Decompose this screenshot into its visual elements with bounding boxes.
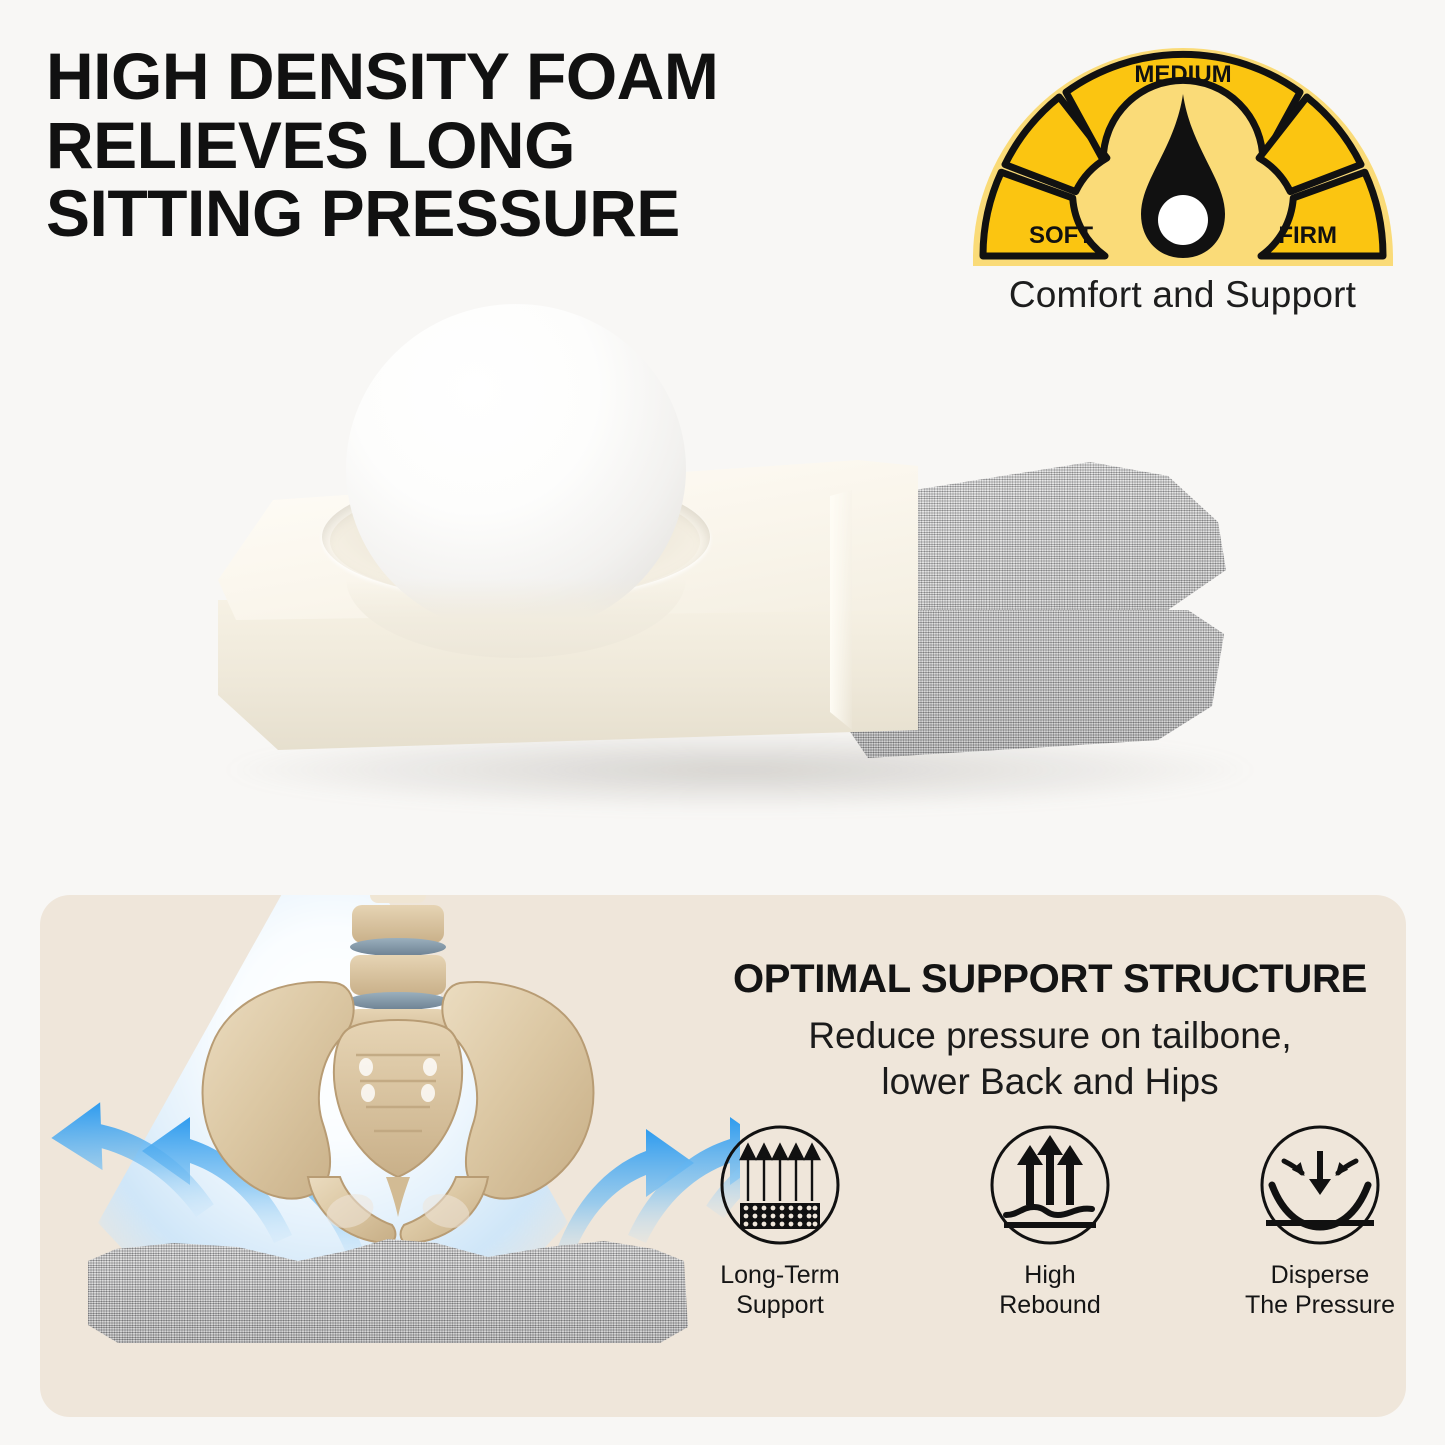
right-ilium xyxy=(442,982,593,1199)
anatomy-illustration xyxy=(40,895,740,1417)
pelvis-bone-icon xyxy=(180,895,600,1277)
headline-line-2: RELIEVES LONG xyxy=(46,111,926,180)
left-ilium xyxy=(203,982,354,1199)
rebound-arrows-icon xyxy=(988,1123,1112,1247)
feature-long-term-support: Long-Term Support xyxy=(680,1123,880,1320)
gauge-label-firm: FIRM xyxy=(1278,222,1337,249)
contoured-cushion xyxy=(88,1227,688,1349)
page-headline: HIGH DENSITY FOAM RELIEVES LONG SITTING … xyxy=(46,42,926,248)
comfort-gauge: SOFT MEDIUM FIRM Comfort and Support xyxy=(955,30,1410,316)
feature-label: Disperse The Pressure xyxy=(1220,1260,1406,1320)
foam-fabric-seam xyxy=(830,460,852,750)
gauge-label-medium: MEDIUM xyxy=(1134,61,1231,88)
disperse-arrows-icon xyxy=(1258,1123,1382,1247)
gauge-label-soft: SOFT xyxy=(1029,222,1093,249)
mesh-arrows-icon xyxy=(718,1123,842,1247)
feature-high-rebound: High Rebound xyxy=(950,1123,1150,1320)
contoured-cushion-fabric xyxy=(88,1227,688,1345)
panel-title: OPTIMAL SUPPORT STRUCTURE xyxy=(670,957,1406,1002)
feature-disperse-pressure: Disperse The Pressure xyxy=(1220,1123,1406,1320)
foam-cushion xyxy=(218,460,1233,760)
feature-label: Long-Term Support xyxy=(680,1260,880,1320)
headline-line-3: SITTING PRESSURE xyxy=(46,179,926,248)
feature-label: High Rebound xyxy=(950,1260,1150,1320)
hero-product-image xyxy=(0,300,1445,860)
panel-subtitle: Reduce pressure on tailbone, lower Back … xyxy=(670,1013,1406,1105)
comfort-gauge-icon: SOFT MEDIUM FIRM xyxy=(963,30,1403,270)
sacrum xyxy=(334,1020,462,1177)
headline-line-1: HIGH DENSITY FOAM xyxy=(46,42,926,111)
coccyx xyxy=(386,1177,410,1217)
support-structure-panel: OPTIMAL SUPPORT STRUCTURE Reduce pressur… xyxy=(40,895,1406,1417)
feature-list: Long-Term Support High Rebound xyxy=(680,1123,1406,1320)
